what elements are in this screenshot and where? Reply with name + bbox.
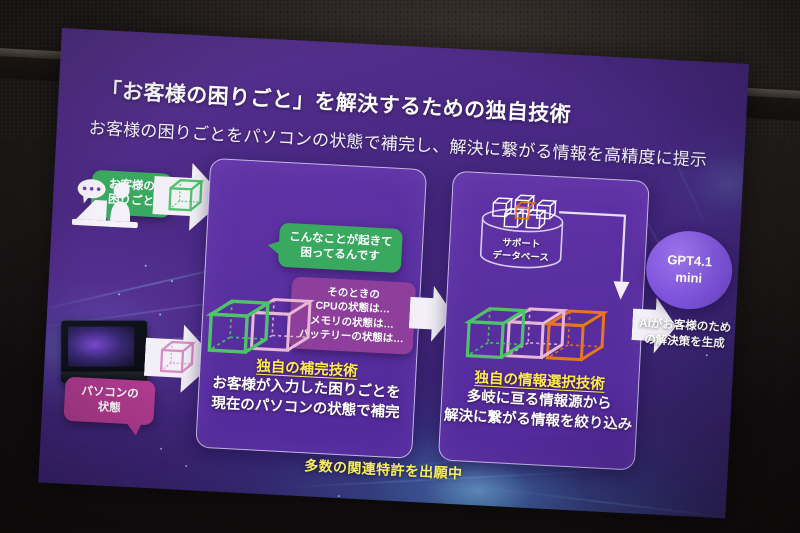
slide-surface: 「お客様の困りごと」を解決するための独自技術 お客様の困りごとをパソコンの状態で… [38,28,749,518]
green-cube-icon [166,176,206,216]
projected-slide-photo: 「お客様の困りごと」を解決するための独自技術 お客様の困りごとをパソコンの状態で… [0,0,800,533]
gpt-model-badge: GPT4.1 mini [644,229,734,311]
laptop-screen [68,327,134,367]
output-caption: AIがお客様のため の解決策を生成 [634,316,735,352]
pc-state-badge: パソコンの 状態 [63,377,155,426]
gpt-model-badge-line1: GPT4.1 [667,252,713,271]
gpt-model-badge-line2: mini [666,269,712,288]
laptop-photo [61,321,147,383]
issue-description-bubble: こんなことが起きて 困ってるんです [278,223,403,273]
person-with-laptop-icon [71,177,154,237]
pink-cube-icon [158,338,198,378]
slide-canvas: 「お客様の困りごと」を解決するための独自技術 お客様の困りごとをパソコンの状態で… [38,28,749,518]
